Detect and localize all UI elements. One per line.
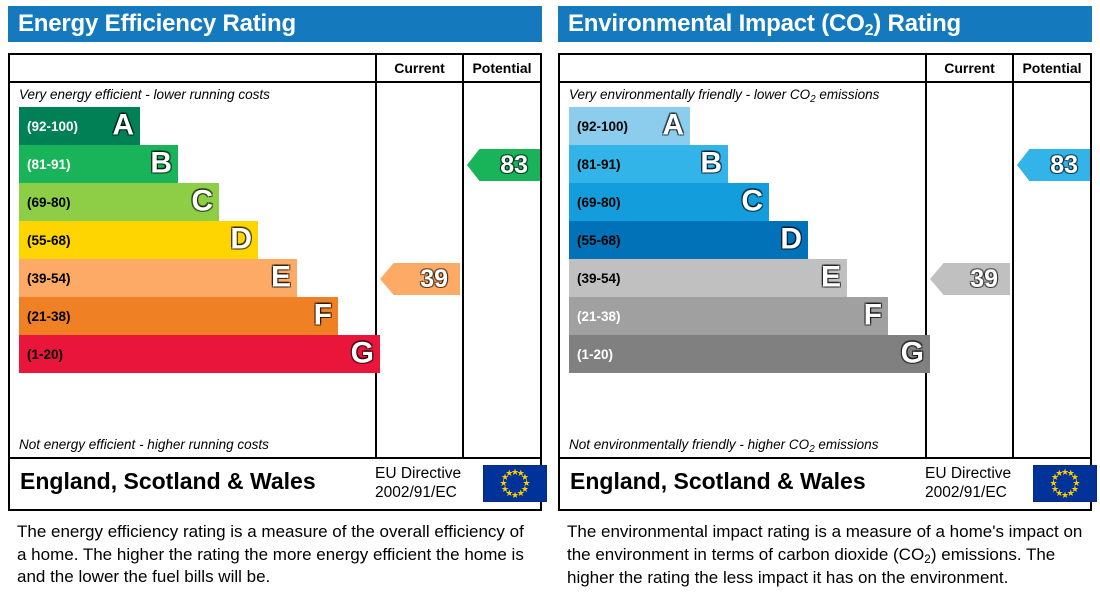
band-letter: E bbox=[271, 262, 291, 292]
caption-bottom: Not energy efficient - higher running co… bbox=[10, 433, 375, 457]
band-range-label: (39-54) bbox=[19, 271, 71, 286]
environmental-impact-chart: Environmental Impact (CO2) RatingCurrent… bbox=[550, 0, 1100, 616]
potential-rating-arrow: 83 bbox=[467, 149, 540, 181]
band-range-label: (69-80) bbox=[569, 195, 621, 210]
certificate-footer: England, Scotland & WalesEU Directive200… bbox=[8, 459, 542, 511]
band-range-label: (81-91) bbox=[569, 157, 621, 172]
footer-directive-label: EU Directive2002/91/EC bbox=[925, 464, 1011, 502]
rating-band-f: (21-38)F bbox=[19, 297, 338, 335]
band-letter: B bbox=[700, 148, 722, 178]
rating-band-c: (69-80)C bbox=[569, 183, 769, 221]
chart-title: Energy Efficiency Rating bbox=[8, 6, 542, 42]
column-header-current: Current bbox=[375, 55, 462, 81]
band-letter: F bbox=[314, 300, 332, 330]
footer-region-label: England, Scotland & Wales bbox=[570, 468, 866, 495]
band-range-label: (55-68) bbox=[569, 233, 621, 248]
band-letter: C bbox=[191, 186, 213, 216]
eu-flag-icon: ★★★★★★★★★★★★ bbox=[1033, 465, 1097, 502]
caption-bottom: Not environmentally friendly - higher CO… bbox=[560, 433, 925, 457]
band-range-label: (69-80) bbox=[19, 195, 71, 210]
table-header-row: CurrentPotential bbox=[560, 55, 1090, 83]
rating-bands: (92-100)A(81-91)B(69-80)C(55-68)D(39-54)… bbox=[19, 107, 375, 433]
potential-rating-arrow: 83 bbox=[1017, 149, 1090, 181]
current-rating-arrow: 39 bbox=[930, 263, 1010, 295]
band-letter: G bbox=[901, 338, 924, 368]
band-letter: B bbox=[150, 148, 172, 178]
rating-value: 39 bbox=[970, 265, 998, 294]
footer-directive-label: EU Directive2002/91/EC bbox=[375, 464, 461, 502]
rating-band-g: (1-20)G bbox=[569, 335, 930, 373]
caption-top: Very energy efficient - lower running co… bbox=[10, 83, 375, 107]
band-range-label: (92-100) bbox=[19, 119, 78, 134]
rating-bands: (92-100)A(81-91)B(69-80)C(55-68)D(39-54)… bbox=[569, 107, 925, 433]
rating-value: 39 bbox=[420, 265, 448, 294]
chart-description: The environmental impact rating is a mea… bbox=[567, 521, 1087, 590]
column-header-current: Current bbox=[925, 55, 1012, 81]
band-letter: A bbox=[112, 110, 134, 140]
table-header-row: CurrentPotential bbox=[10, 55, 540, 83]
column-divider bbox=[375, 83, 377, 457]
band-letter: E bbox=[821, 262, 841, 292]
rating-band-b: (81-91)B bbox=[19, 145, 178, 183]
band-letter: D bbox=[780, 224, 802, 254]
rating-band-e: (39-54)E bbox=[569, 259, 847, 297]
rating-band-d: (55-68)D bbox=[19, 221, 258, 259]
rating-band-a: (92-100)A bbox=[19, 107, 140, 145]
rating-band-g: (1-20)G bbox=[19, 335, 380, 373]
band-range-label: (55-68) bbox=[19, 233, 71, 248]
band-range-label: (21-38) bbox=[569, 309, 621, 324]
rating-band-e: (39-54)E bbox=[19, 259, 297, 297]
rating-band-f: (21-38)F bbox=[569, 297, 888, 335]
eu-flag-icon: ★★★★★★★★★★★★ bbox=[483, 465, 547, 502]
band-range-label: (1-20) bbox=[569, 347, 613, 362]
band-range-label: (39-54) bbox=[569, 271, 621, 286]
band-range-label: (1-20) bbox=[19, 347, 63, 362]
epc-certificate-page: Energy Efficiency RatingCurrentPotential… bbox=[0, 0, 1100, 616]
chart-description: The energy efficiency rating is a measur… bbox=[17, 521, 537, 589]
column-header-potential: Potential bbox=[1012, 55, 1090, 81]
column-divider bbox=[1012, 83, 1014, 457]
rating-band-a: (92-100)A bbox=[569, 107, 690, 145]
band-letter: C bbox=[741, 186, 763, 216]
certificate-footer: England, Scotland & WalesEU Directive200… bbox=[558, 459, 1092, 511]
eu-flag-star-icon: ★ bbox=[505, 469, 514, 478]
rating-table: CurrentPotentialVery environmentally fri… bbox=[558, 53, 1092, 511]
chart-title: Environmental Impact (CO2) Rating bbox=[558, 6, 1092, 42]
band-range-label: (21-38) bbox=[19, 309, 71, 324]
footer-region-label: England, Scotland & Wales bbox=[20, 468, 316, 495]
eu-flag-star-icon: ★ bbox=[1055, 469, 1064, 478]
rating-band-b: (81-91)B bbox=[569, 145, 728, 183]
rating-table: CurrentPotentialVery energy efficient - … bbox=[8, 53, 542, 511]
rating-band-c: (69-80)C bbox=[19, 183, 219, 221]
rating-band-d: (55-68)D bbox=[569, 221, 808, 259]
current-rating-arrow: 39 bbox=[380, 263, 460, 295]
rating-value: 83 bbox=[500, 151, 528, 180]
energy-efficiency-chart: Energy Efficiency RatingCurrentPotential… bbox=[0, 0, 550, 616]
column-divider bbox=[462, 83, 464, 457]
caption-top: Very environmentally friendly - lower CO… bbox=[560, 83, 925, 107]
band-letter: F bbox=[864, 300, 882, 330]
rating-value: 83 bbox=[1050, 151, 1078, 180]
band-range-label: (81-91) bbox=[19, 157, 71, 172]
column-header-potential: Potential bbox=[462, 55, 540, 81]
band-letter: A bbox=[662, 110, 684, 140]
column-divider bbox=[925, 83, 927, 457]
band-letter: G bbox=[351, 338, 374, 368]
band-range-label: (92-100) bbox=[569, 119, 628, 134]
band-letter: D bbox=[230, 224, 252, 254]
